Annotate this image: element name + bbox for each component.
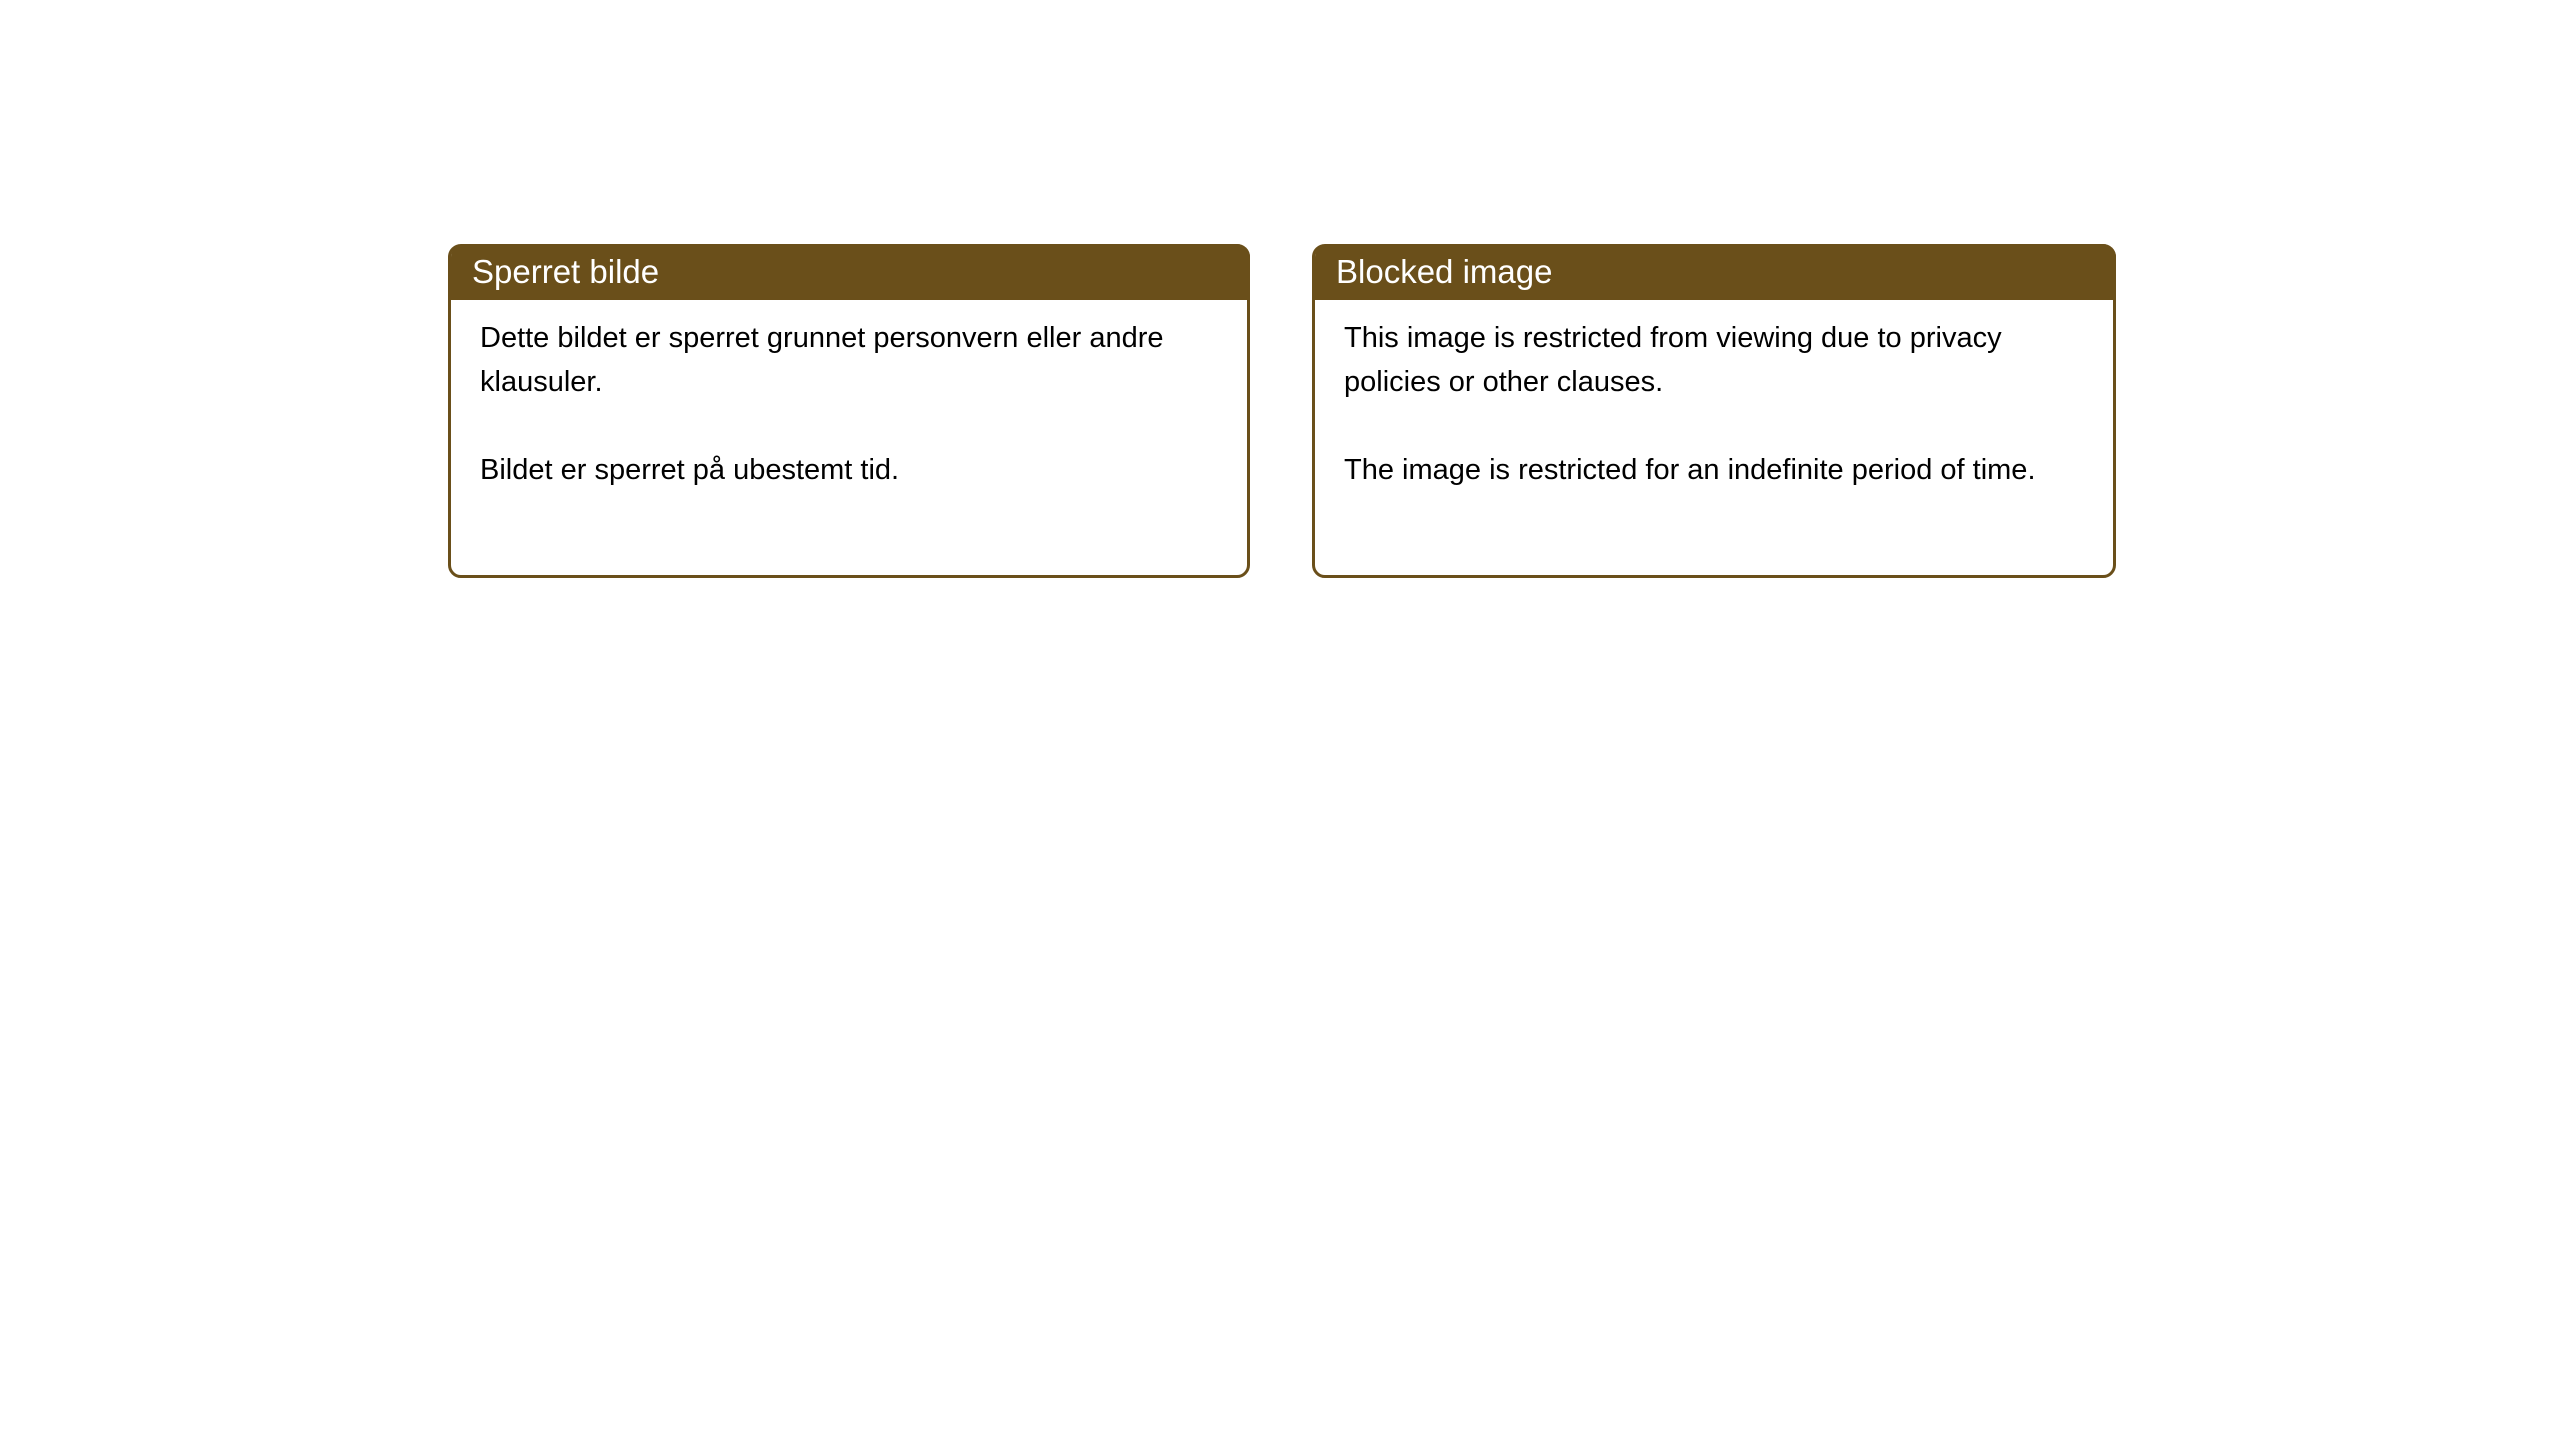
paragraph-spacer [1344,404,2097,448]
card-paragraph-primary: This image is restricted from viewing du… [1344,316,2097,404]
paragraph-spacer [480,404,1231,448]
card-header-norwegian: Sperret bilde [451,244,1250,300]
card-paragraph-secondary: Bildet er sperret på ubestemt tid. [480,448,1231,492]
blocked-image-notice-card-english: This image is restricted from viewing du… [1312,244,2116,578]
card-paragraph-secondary: The image is restricted for an indefinit… [1344,448,2097,492]
card-body-content-norwegian: Dette bildet er sperret grunnet personve… [480,316,1231,492]
page-canvas: Dette bildet er sperret grunnet personve… [0,0,2560,1440]
card-header-english: Blocked image [1315,244,2116,300]
card-paragraph-primary: Dette bildet er sperret grunnet personve… [480,316,1231,404]
card-title-english: Blocked image [1336,251,1552,293]
card-title-norwegian: Sperret bilde [472,251,659,293]
card-body-content-english: This image is restricted from viewing du… [1344,316,2097,492]
blocked-image-notice-card-norwegian: Dette bildet er sperret grunnet personve… [448,244,1250,578]
